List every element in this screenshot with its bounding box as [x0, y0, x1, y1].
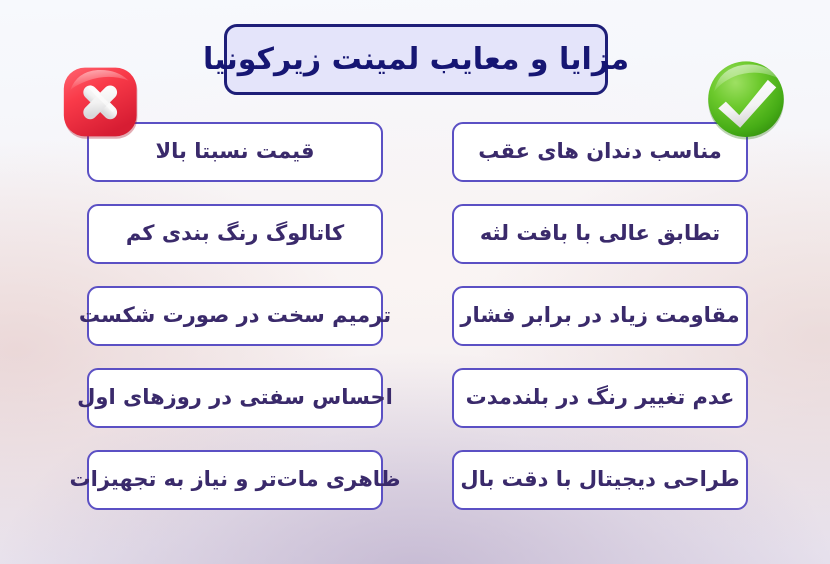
pros-item[interactable]: طراحی دیجیتال با دقت بال [452, 450, 748, 510]
pros-item-label: طراحی دیجیتال با دقت بال [460, 468, 739, 491]
pros-item-label: تطابق عالی با بافت لثه [480, 222, 720, 245]
cons-item[interactable]: قیمت نسبتا بالا [87, 122, 383, 182]
cons-item[interactable]: احساس سفتی در روزهای اول [87, 368, 383, 428]
infographic-canvas: مزایا و معایب لمینت زیرکونیا [0, 0, 830, 564]
cons-item-label: قیمت نسبتا بالا [156, 140, 315, 163]
pros-item-label: مقاومت زیاد در برابر فشار [460, 304, 739, 327]
pros-item-label: عدم تغییر رنگ در بلندمدت [466, 386, 735, 409]
cons-item[interactable]: کاتالوگ رنگ بندی کم [87, 204, 383, 264]
cons-item-label: کاتالوگ رنگ بندی کم [126, 222, 344, 245]
cons-item[interactable]: ترمیم سخت در صورت شکست [87, 286, 383, 346]
pros-column: مناسب دندان های عقب تطابق عالی با بافت ل… [452, 122, 748, 510]
pros-item[interactable]: مناسب دندان های عقب [452, 122, 748, 182]
cons-item[interactable]: ظاهری مات‌تر و نیاز به تجهیزات [87, 450, 383, 510]
pros-item-label: مناسب دندان های عقب [478, 140, 722, 163]
cons-column: قیمت نسبتا بالا کاتالوگ رنگ بندی کم ترمی… [87, 122, 383, 510]
page-title: مزایا و معایب لمینت زیرکونیا [224, 24, 608, 95]
page-title-text: مزایا و معایب لمینت زیرکونیا [203, 45, 629, 75]
pros-item[interactable]: عدم تغییر رنگ در بلندمدت [452, 368, 748, 428]
cons-item-label: احساس سفتی در روزهای اول [77, 386, 393, 409]
pros-item[interactable]: تطابق عالی با بافت لثه [452, 204, 748, 264]
pros-item[interactable]: مقاومت زیاد در برابر فشار [452, 286, 748, 346]
cons-item-label: ترمیم سخت در صورت شکست [79, 304, 391, 327]
cons-item-label: ظاهری مات‌تر و نیاز به تجهیزات [70, 468, 401, 491]
